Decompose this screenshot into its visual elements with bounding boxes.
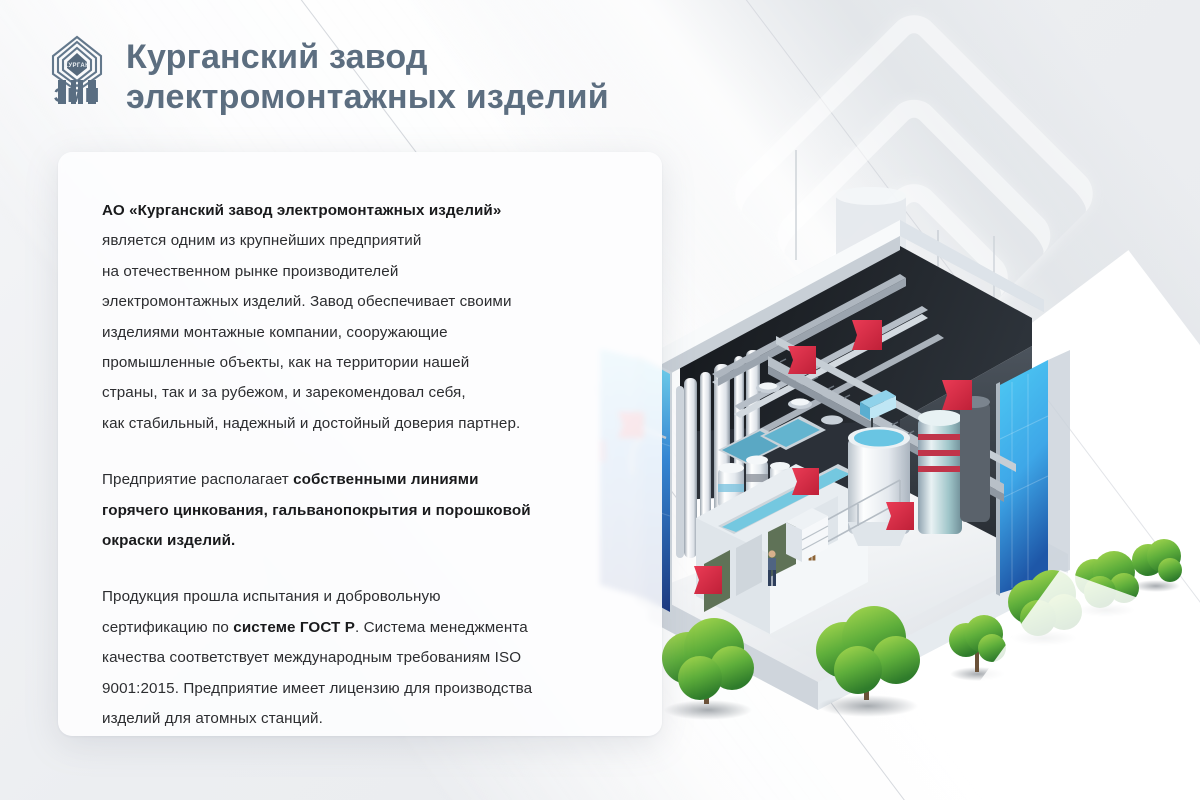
capabilities-line-0: Предприятие располагает собственными лин…: [102, 465, 622, 495]
certification-line-1-after: . Система менеджмента: [355, 619, 528, 636]
certification-line-1-bold: системе ГОСТ Р: [233, 619, 355, 636]
certification-line-0: Продукция прошла испытания и добровольну…: [102, 582, 622, 612]
paragraph-capabilities: Предприятие располагает собственными лин…: [102, 465, 622, 556]
paragraph-certification: Продукция прошла испытания и добровольну…: [102, 582, 622, 734]
certification-line-3: 9001:2015. Предприятие имеет лицензию дл…: [102, 674, 622, 704]
right-blue-wall: [996, 350, 1070, 596]
intro-line-5: промышленные объекты, как на территории …: [102, 348, 622, 378]
intro-line-2: на отечественном рынке производителей: [102, 257, 622, 287]
certification-line-1-plain: сертификацию по: [102, 619, 233, 636]
page-title: Курганский завод электромонтажных издели…: [126, 34, 609, 118]
intro-line-0: АО «Курганский завод электромонтажных из…: [102, 196, 622, 226]
capabilities-line-2: окраски изделий.: [102, 526, 622, 556]
intro-line-3: электромонтажных изделий. Завод обеспечи…: [102, 287, 622, 317]
intro-line-7: как стабильный, надежный и достойный дов…: [102, 409, 622, 439]
capabilities-line-0-bold: собственными линиями: [293, 471, 478, 488]
logo-bottom-text: ЗМИ: [54, 85, 101, 107]
tree-right-3: [1132, 539, 1182, 582]
capabilities-line-0-plain: Предприятие располагает: [102, 471, 293, 488]
info-card-body: АО «Курганский завод электромонтажных из…: [58, 152, 662, 735]
intro-line-6: страны, так и за рубежом, и зарекомендов…: [102, 378, 622, 408]
kzemi-logo: КУРГАН ЗМИ: [48, 34, 106, 110]
intro-line-4: изделиями монтажные компании, сооружающи…: [102, 318, 622, 348]
poster-canvas: КУРГАН ЗМИ Курганский завод электромонта…: [0, 0, 1200, 800]
info-card: АО «Курганский завод электромонтажных из…: [58, 152, 662, 736]
certification-line-1: сертификацию по системе ГОСТ Р. Система …: [102, 613, 622, 643]
page-header: КУРГАН ЗМИ Курганский завод электромонта…: [48, 34, 609, 118]
industrial-building-illustration: [600, 150, 1200, 750]
logo-top-text: КУРГАН: [64, 63, 90, 69]
paragraph-intro: АО «Курганский завод электромонтажных из…: [102, 196, 622, 439]
capabilities-line-1: горячего цинкования, гальванопокрытия и …: [102, 496, 622, 526]
intro-line-1: является одним из крупнейших предприятий: [102, 226, 622, 256]
certification-line-2: качества соответствует международным тре…: [102, 643, 622, 673]
certification-line-4: изделий для атомных станций.: [102, 704, 622, 734]
